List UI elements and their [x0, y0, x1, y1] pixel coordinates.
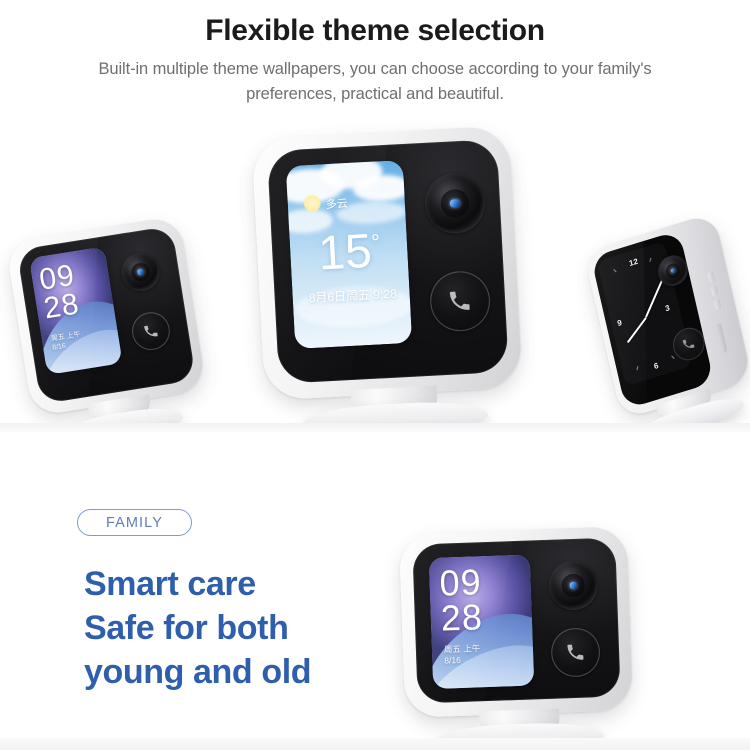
clock-numeral-3: 3	[665, 304, 671, 313]
clock-numeral-9: 9	[617, 319, 623, 328]
handset-glyph	[447, 288, 473, 314]
degree-symbol: °	[371, 229, 381, 254]
meta-weekday: 周五 上午	[444, 643, 481, 655]
clock-tick	[671, 356, 674, 360]
handset-glyph	[681, 336, 697, 353]
temperature-number: 15	[317, 225, 373, 281]
lens-inner	[562, 574, 585, 597]
family-badge: FAMILY	[77, 509, 192, 536]
weather-condition: 多云	[325, 195, 348, 212]
clock-minute-hand	[645, 279, 663, 318]
device-center[interactable]: 多云 15° 8月6日周五 9:28	[251, 125, 522, 400]
handset-glyph	[565, 642, 586, 663]
device-center-glass-panel: 多云 15° 8月6日周五 9:28	[267, 139, 509, 384]
lens-glint	[137, 269, 144, 275]
lens-glint	[670, 268, 675, 273]
device-bottom-meta: 周五 上午 8/16	[444, 643, 481, 666]
device-center-screen[interactable]: 多云 15° 8月6日周五 9:28	[286, 160, 412, 349]
headline-line-2: Safe for both	[84, 606, 288, 650]
clock-numeral-12: 12	[628, 258, 638, 268]
phone-handset-icon[interactable]	[429, 270, 492, 333]
clock-numeral-6: 6	[653, 362, 659, 371]
device-left[interactable]: 09 28 周五 上午 8/16	[5, 215, 206, 416]
section-divider	[0, 423, 750, 432]
bottom-edge-band	[0, 738, 750, 750]
lens-glint	[569, 582, 577, 589]
phone-handset-icon[interactable]	[550, 627, 601, 678]
clock-minutes: 28	[440, 600, 483, 636]
clock-minutes: 28	[42, 290, 81, 324]
clock-tick	[636, 366, 638, 370]
lens-glint	[450, 199, 460, 208]
temperature-value: 15°	[317, 223, 382, 281]
device-bottom-clock: 09 28	[439, 565, 483, 636]
handset-glyph	[142, 322, 160, 340]
page-title: Flexible theme selection	[0, 14, 750, 48]
camera-lens-icon[interactable]	[423, 172, 486, 235]
theme-showcase-stage: 09 28 周五 上午 8/16	[0, 120, 750, 425]
device-bottom-screen[interactable]: 09 28 周五 上午 8/16	[429, 554, 535, 688]
lens-inner	[440, 189, 469, 218]
device-bottom[interactable]: 09 28 周五 上午 8/16	[399, 526, 633, 718]
family-section: FAMILY Smart care Safe for both young an…	[0, 432, 750, 750]
device-left-screen[interactable]: 09 28 周五 上午 8/16	[29, 246, 123, 374]
meta-date: 8/16	[444, 654, 481, 666]
clock-tick	[649, 258, 651, 262]
phone-handset-icon[interactable]	[129, 309, 172, 352]
page-subtitle: Built-in multiple theme wallpapers, you …	[70, 57, 680, 107]
device-right[interactable]: 12 3 6 9	[583, 212, 750, 419]
camera-lens-icon[interactable]	[548, 560, 599, 611]
device-left-glass-panel: 09 28 周五 上午 8/16	[17, 226, 196, 405]
camera-lens-icon[interactable]	[119, 250, 162, 293]
clock-hour-hand	[627, 317, 647, 343]
headline-line-3: young and old	[84, 650, 311, 694]
headline-line-1: Smart care	[84, 562, 256, 606]
device-bottom-glass-panel: 09 28 周五 上午 8/16	[412, 537, 620, 703]
promo-page: Flexible theme selection Built-in multip…	[0, 0, 750, 750]
lens-inner	[665, 262, 681, 279]
clock-tick	[613, 269, 616, 273]
lens-inner	[131, 262, 151, 282]
